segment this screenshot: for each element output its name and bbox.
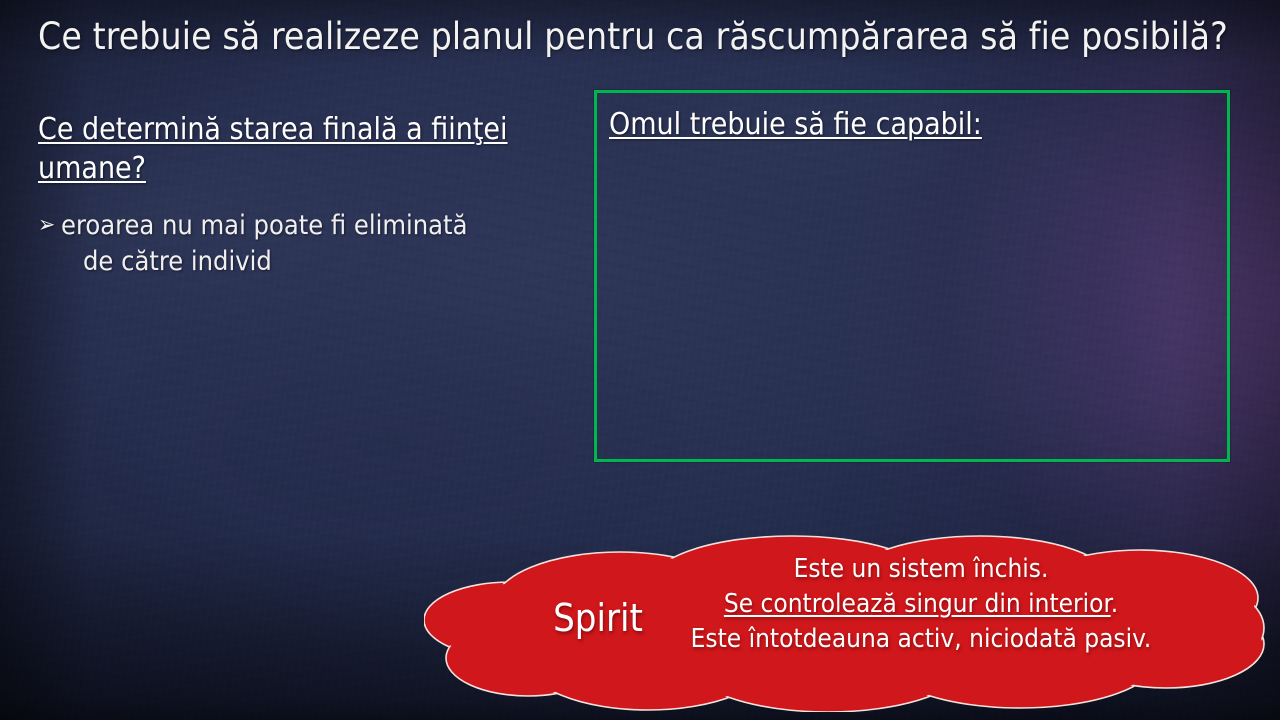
cloud-line-3: Este întotdeauna activ, niciodată pasiv.: [606, 622, 1236, 657]
left-bullet-list: ➢ eroarea nu mai poate fi eliminată de c…: [38, 208, 558, 280]
list-item-text: eroarea nu mai poate fi eliminată de căt…: [60, 208, 558, 280]
list-item-line-1: eroarea nu mai poate fi eliminată: [61, 210, 467, 241]
cloud-line-1: Este un sistem închis.: [606, 552, 1236, 587]
list-item-line-2: de către individ: [61, 244, 558, 280]
cloud-line-2-underlined: Se controlează singur din interior: [724, 589, 1111, 619]
cloud-callout: Spirit Este un sistem închis. Se control…: [424, 524, 1266, 712]
list-item: ➢ eroarea nu mai poate fi eliminată de c…: [38, 208, 558, 280]
green-bordered-box: Omul trebuie să fie capabil:: [594, 90, 1230, 462]
slide-title: Ce trebuie să realizeze planul pentru ca…: [38, 16, 1248, 59]
green-box-heading: Omul trebuie să fie capabil:: [609, 107, 982, 142]
cloud-line-2: Se controlează singur din interior.: [606, 587, 1236, 622]
slide-canvas: Ce trebuie să realizeze planul pentru ca…: [0, 0, 1280, 720]
left-content-column: Ce determină starea finală a fiinţei uma…: [38, 110, 558, 280]
cloud-line-2-period: .: [1111, 589, 1118, 619]
left-column-heading: Ce determină starea finală a fiinţei uma…: [38, 110, 558, 188]
cloud-text-block: Este un sistem închis. Se controlează si…: [606, 552, 1236, 656]
arrow-bullet-icon: ➢: [38, 208, 60, 243]
